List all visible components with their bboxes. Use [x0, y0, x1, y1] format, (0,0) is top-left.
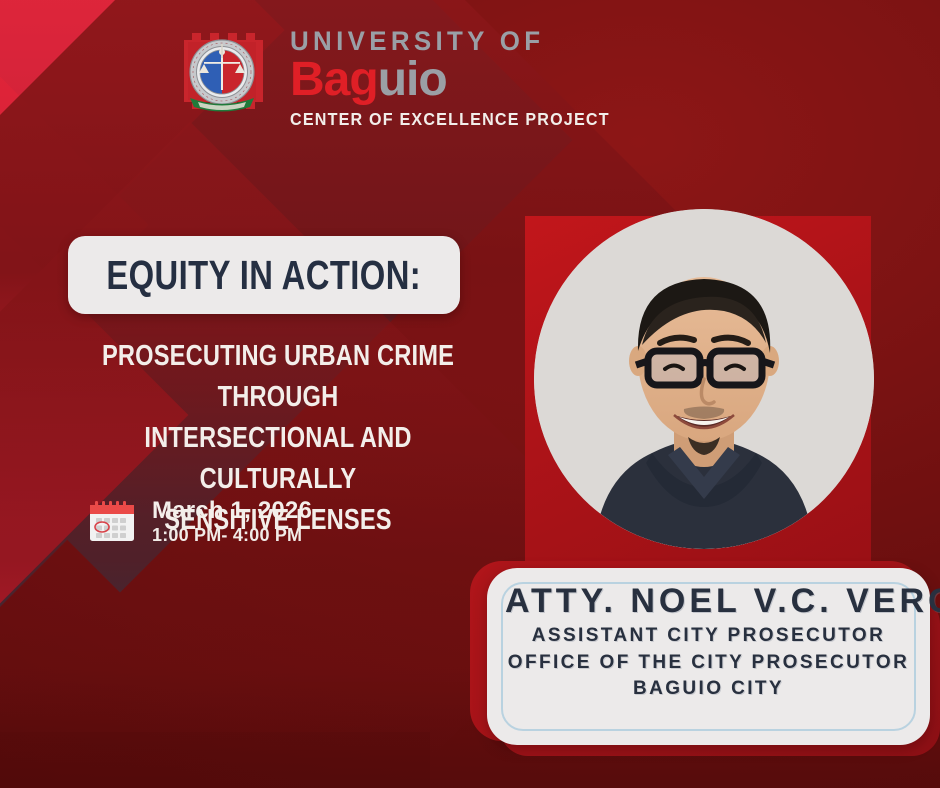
- wordmark-baguio-gray: uio: [378, 53, 447, 106]
- wordmark-project: CENTER OF EXCELLENCE PROJECT: [290, 109, 610, 130]
- page-title: EQUITY IN ACTION:: [107, 252, 422, 299]
- speaker-details: ASSISTANT CITY PROSECUTOR OFFICE OF THE …: [505, 623, 912, 703]
- event-time: 1:00 PM- 4:00 PM: [152, 525, 312, 546]
- subtitle-line-2: INTERSECTIONAL AND CULTURALLY: [95, 418, 460, 500]
- decorative-bottom-block: [0, 732, 430, 788]
- event-poster: UNIVERSITY OF Baguio CENTER OF EXCELLENC…: [0, 0, 940, 788]
- wordmark-baguio: Baguio: [290, 56, 638, 105]
- wordmark-baguio-red: Bag: [290, 53, 378, 106]
- speaker-title: ASSISTANT CITY PROSECUTOR: [505, 623, 912, 650]
- title-badge: EQUITY IN ACTION:: [68, 236, 460, 314]
- speaker-city: BAGUIO CITY: [505, 676, 912, 703]
- wordmark-university: UNIVERSITY OF: [290, 28, 624, 55]
- schedule-text: March 1, 2026 1:00 PM- 4:00 PM: [152, 498, 312, 546]
- ub-seal-icon: [168, 22, 276, 132]
- poster-header: UNIVERSITY OF Baguio CENTER OF EXCELLENC…: [168, 22, 638, 132]
- event-date: March 1, 2026: [152, 498, 312, 525]
- wordmark: UNIVERSITY OF Baguio CENTER OF EXCELLENC…: [290, 24, 638, 131]
- speaker-portrait-illustration: [534, 209, 874, 549]
- speaker-office: OFFICE OF THE CITY PROSECUTOR: [505, 650, 912, 677]
- speaker-photo: [534, 209, 874, 549]
- subtitle-line-1: PROSECUTING URBAN CRIME THROUGH: [95, 336, 460, 418]
- calendar-icon: [86, 496, 138, 548]
- speaker-name: ATTY. NOEL V.C. VERGARA: [505, 582, 912, 620]
- schedule-row: March 1, 2026 1:00 PM- 4:00 PM: [86, 496, 312, 548]
- speaker-card: ATTY. NOEL V.C. VERGARA ASSISTANT CITY P…: [487, 568, 930, 745]
